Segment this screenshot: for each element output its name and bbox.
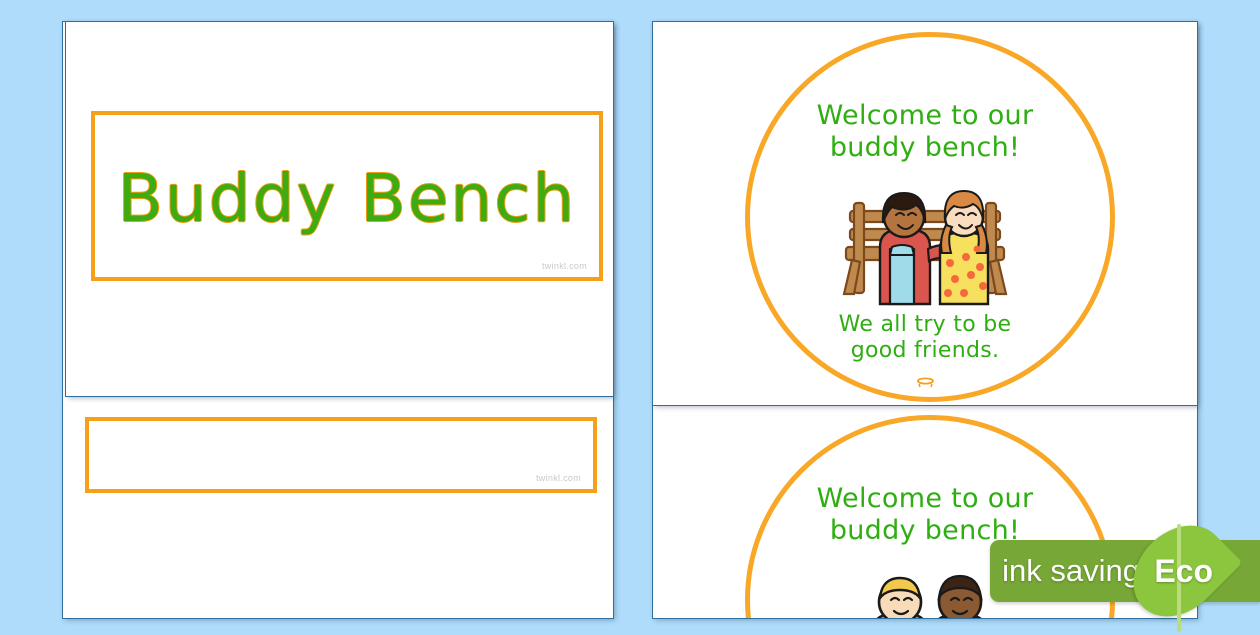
- eco-ink-saving-label: ink saving: [1002, 540, 1140, 602]
- poster-title-line-1: Welcome to our: [653, 100, 1197, 132]
- poster-subtitle-line-2: good friends.: [653, 338, 1197, 364]
- two-girls-bench-illustration: [836, 187, 1014, 309]
- banner-title-buddy-bench: Buddy Bench: [95, 160, 599, 237]
- document-page-poster-girls[interactable]: Welcome to our buddy bench!: [653, 22, 1197, 405]
- eco-label: Eco: [1154, 540, 1213, 602]
- poster-subtitle-line-1: We all try to be: [653, 312, 1197, 338]
- clipart-two-girls-on-bench: [653, 187, 1197, 309]
- two-boys-football-illustration: [849, 570, 1001, 618]
- twinkl-watermark: twinkl.com: [536, 473, 581, 483]
- banner-border-friendship-station: twinkl.com: [85, 417, 597, 493]
- poster-subtitle-girls: We all try to be good friends.: [653, 312, 1197, 365]
- twinkl-watermark: twinkl.com: [542, 261, 587, 271]
- document-page-buddy-bench[interactable]: twinkl.com Buddy Bench: [66, 22, 613, 396]
- poster-title-line-2: buddy bench!: [653, 132, 1197, 164]
- preview-stage: twinkl.com Friendship Station twinkl.com…: [0, 0, 1260, 630]
- poster-title-girls: Welcome to our buddy bench!: [653, 100, 1197, 164]
- poster-title-boys: Welcome to our buddy bench!: [653, 483, 1197, 547]
- bench-icon-glyph: [917, 377, 934, 388]
- banner-border-buddy-bench: twinkl.com Buddy Bench: [91, 111, 603, 281]
- poster-title-line-1: Welcome to our: [653, 483, 1197, 515]
- bench-icon: [653, 377, 1197, 391]
